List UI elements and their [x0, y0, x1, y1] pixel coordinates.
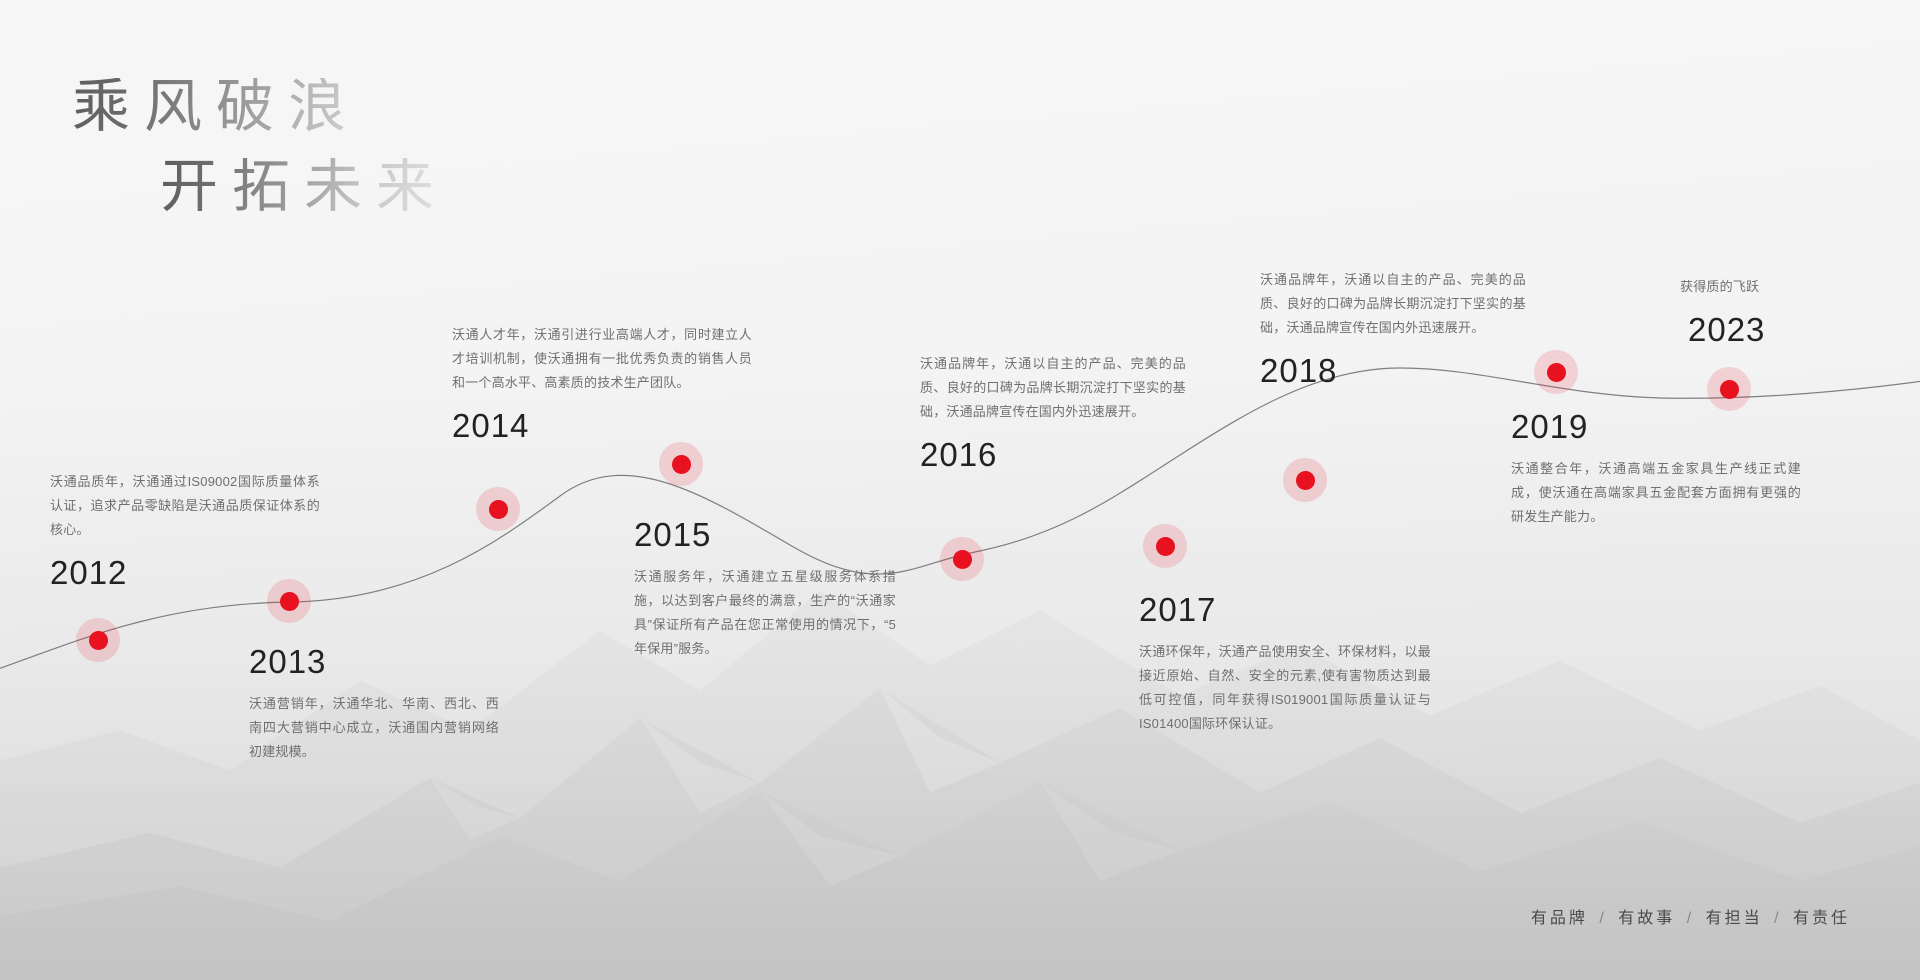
tagline-separator: / [1687, 910, 1694, 927]
entry-year: 2015 [634, 518, 896, 551]
footer-tagline: 有品牌 / 有故事 / 有担当 / 有责任 [1531, 904, 1850, 928]
timeline-node-2016[interactable] [940, 537, 984, 581]
node-dot-icon [672, 455, 691, 474]
timeline-node-2014[interactable] [476, 487, 520, 531]
timeline-entry-2014: 沃通人才年，沃通引进行业高端人才，同时建立人才培训机制，使沃通拥有一批优秀负责的… [452, 323, 752, 442]
timeline-entry-2013: 2013 沃通营销年，沃通华北、华南、西北、西南四大营销中心成立，沃通国内营销网… [249, 645, 499, 764]
node-dot-icon [1156, 537, 1175, 556]
timeline-entry-2017: 2017 沃通环保年，沃通产品使用安全、环保材料，以最接近原始、自然、安全的元素… [1139, 593, 1431, 736]
timeline-poster: 乘风破浪 开拓未来 沃通品质年，沃通通过IS09002国际质量体系认证，追求产品… [0, 0, 1920, 980]
tagline-part-3: 有担当 [1706, 910, 1763, 927]
entry-description: 沃通品牌年，沃通以自主的产品、完美的品质、良好的口碑为品牌长期沉淀打下坚实的基础… [1260, 268, 1526, 340]
entry-description: 沃通品牌年，沃通以自主的产品、完美的品质、良好的口碑为品牌长期沉淀打下坚实的基础… [920, 352, 1186, 424]
node-dot-icon [953, 550, 972, 569]
entry-description: 沃通品质年，沃通通过IS09002国际质量体系认证，追求产品零缺陷是沃通品质保证… [50, 470, 320, 542]
tagline-part-2: 有故事 [1618, 910, 1675, 927]
entry-description: 沃通服务年，沃通建立五星级服务体系措施，以达到客户最终的满意，生产的“沃通家具”… [634, 565, 896, 661]
node-dot-icon [1720, 380, 1739, 399]
entry-year: 2016 [920, 438, 1186, 471]
entry-year: 2013 [249, 645, 499, 678]
timeline-node-2019[interactable] [1534, 350, 1578, 394]
timeline-node-2023[interactable] [1707, 367, 1751, 411]
node-dot-icon [280, 592, 299, 611]
headline-line-2: 开拓未来 [160, 158, 448, 216]
entry-year: 2014 [452, 409, 752, 442]
timeline-entry-2023: 获得质的飞跃 2023 [1680, 275, 1880, 346]
tagline-part-1: 有品牌 [1531, 910, 1588, 927]
headline-line-1: 乘风破浪 [72, 78, 448, 136]
entry-description: 获得质的飞跃 [1680, 275, 1880, 299]
timeline-entry-2015: 2015 沃通服务年，沃通建立五星级服务体系措施，以达到客户最终的满意，生产的“… [634, 518, 896, 661]
entry-year: 2017 [1139, 593, 1431, 626]
timeline-node-2018[interactable] [1283, 458, 1327, 502]
entry-description: 沃通环保年，沃通产品使用安全、环保材料，以最接近原始、自然、安全的元素,使有害物… [1139, 640, 1431, 736]
tagline-separator: / [1774, 910, 1781, 927]
entry-description: 沃通人才年，沃通引进行业高端人才，同时建立人才培训机制，使沃通拥有一批优秀负责的… [452, 323, 752, 395]
timeline-entry-2019: 2019 沃通整合年，沃通高端五金家具生产线正式建成，使沃通在高端家具五金配套方… [1511, 410, 1801, 529]
timeline-node-2017[interactable] [1143, 524, 1187, 568]
page-title: 乘风破浪 开拓未来 [72, 78, 448, 216]
node-dot-icon [1296, 471, 1315, 490]
timeline-node-2015[interactable] [659, 442, 703, 486]
entry-year: 2023 [1688, 313, 1880, 346]
tagline-separator: / [1599, 910, 1606, 927]
timeline-node-2012[interactable] [76, 618, 120, 662]
timeline-entry-2012: 沃通品质年，沃通通过IS09002国际质量体系认证，追求产品零缺陷是沃通品质保证… [50, 470, 320, 589]
node-dot-icon [489, 500, 508, 519]
timeline-entry-2018: 沃通品牌年，沃通以自主的产品、完美的品质、良好的口碑为品牌长期沉淀打下坚实的基础… [1260, 268, 1526, 387]
node-dot-icon [89, 631, 108, 650]
tagline-part-4: 有责任 [1793, 910, 1850, 927]
entry-year: 2012 [50, 556, 320, 589]
entry-description: 沃通整合年，沃通高端五金家具生产线正式建成，使沃通在高端家具五金配套方面拥有更强… [1511, 457, 1801, 529]
entry-year: 2019 [1511, 410, 1801, 443]
entry-description: 沃通营销年，沃通华北、华南、西北、西南四大营销中心成立，沃通国内营销网络初建规模… [249, 692, 499, 764]
node-dot-icon [1547, 363, 1566, 382]
entry-year: 2018 [1260, 354, 1526, 387]
timeline-entry-2016: 沃通品牌年，沃通以自主的产品、完美的品质、良好的口碑为品牌长期沉淀打下坚实的基础… [920, 352, 1186, 471]
